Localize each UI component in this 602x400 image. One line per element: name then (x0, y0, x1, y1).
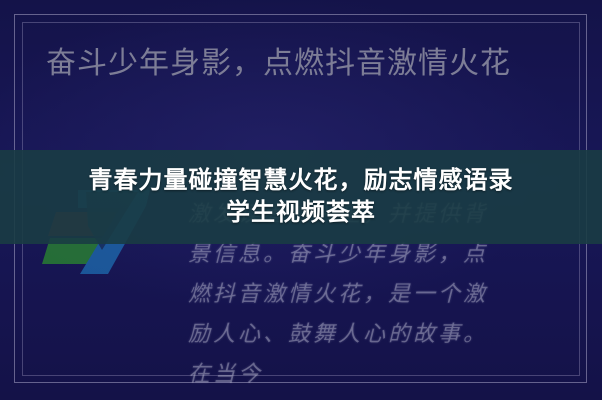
page-heading: 奋斗少年身影，点燃抖音激情火花 (46, 42, 516, 86)
overlay-title-line-1: 青春力量碰撞智慧火花，励志情感语录 (89, 165, 514, 197)
overlay-title-block: 青春力量碰撞智慧火花，励志情感语录 学生视频荟萃 (0, 152, 602, 242)
overlay-title-line-2: 学生视频荟萃 (226, 197, 376, 229)
image-canvas: 奋斗少年身影，点燃抖音激情火花 激发读者的兴趣，并提供背景信息。奋斗少年身影，点… (0, 0, 602, 400)
